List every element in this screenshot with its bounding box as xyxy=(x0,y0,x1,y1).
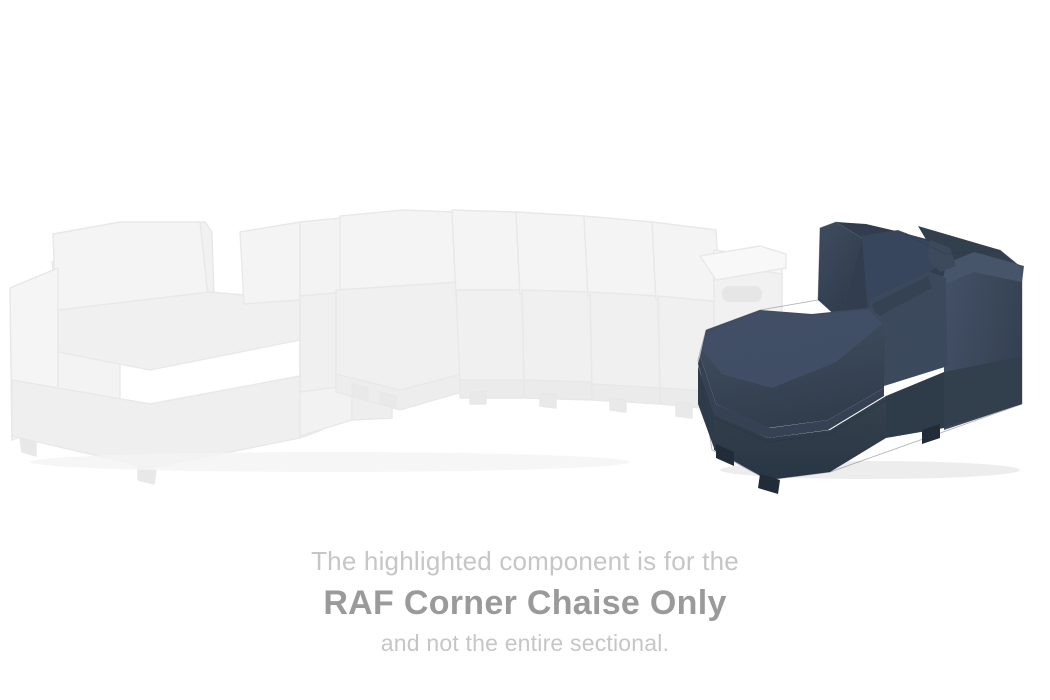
caption-block: The highlighted component is for the RAF… xyxy=(0,548,1050,655)
ghost-armless-chair-2 xyxy=(452,210,524,404)
ghost-armless-chair-4 xyxy=(584,216,660,412)
ghost-corner-wedge xyxy=(336,210,462,410)
product-highlight-screen: The highlighted component is for the RAF… xyxy=(0,0,1050,700)
caption-line-3: and not the entire sectional. xyxy=(0,632,1050,655)
caption-line-1: The highlighted component is for the xyxy=(0,548,1050,586)
product-illustration xyxy=(0,0,1050,520)
caption-line-2-component-name: RAF Corner Chaise Only xyxy=(0,586,1050,632)
ghost-armless-chair-3 xyxy=(516,212,592,408)
sectional-diagram-svg xyxy=(0,0,1050,520)
ghosted-sectional-group xyxy=(10,210,786,484)
